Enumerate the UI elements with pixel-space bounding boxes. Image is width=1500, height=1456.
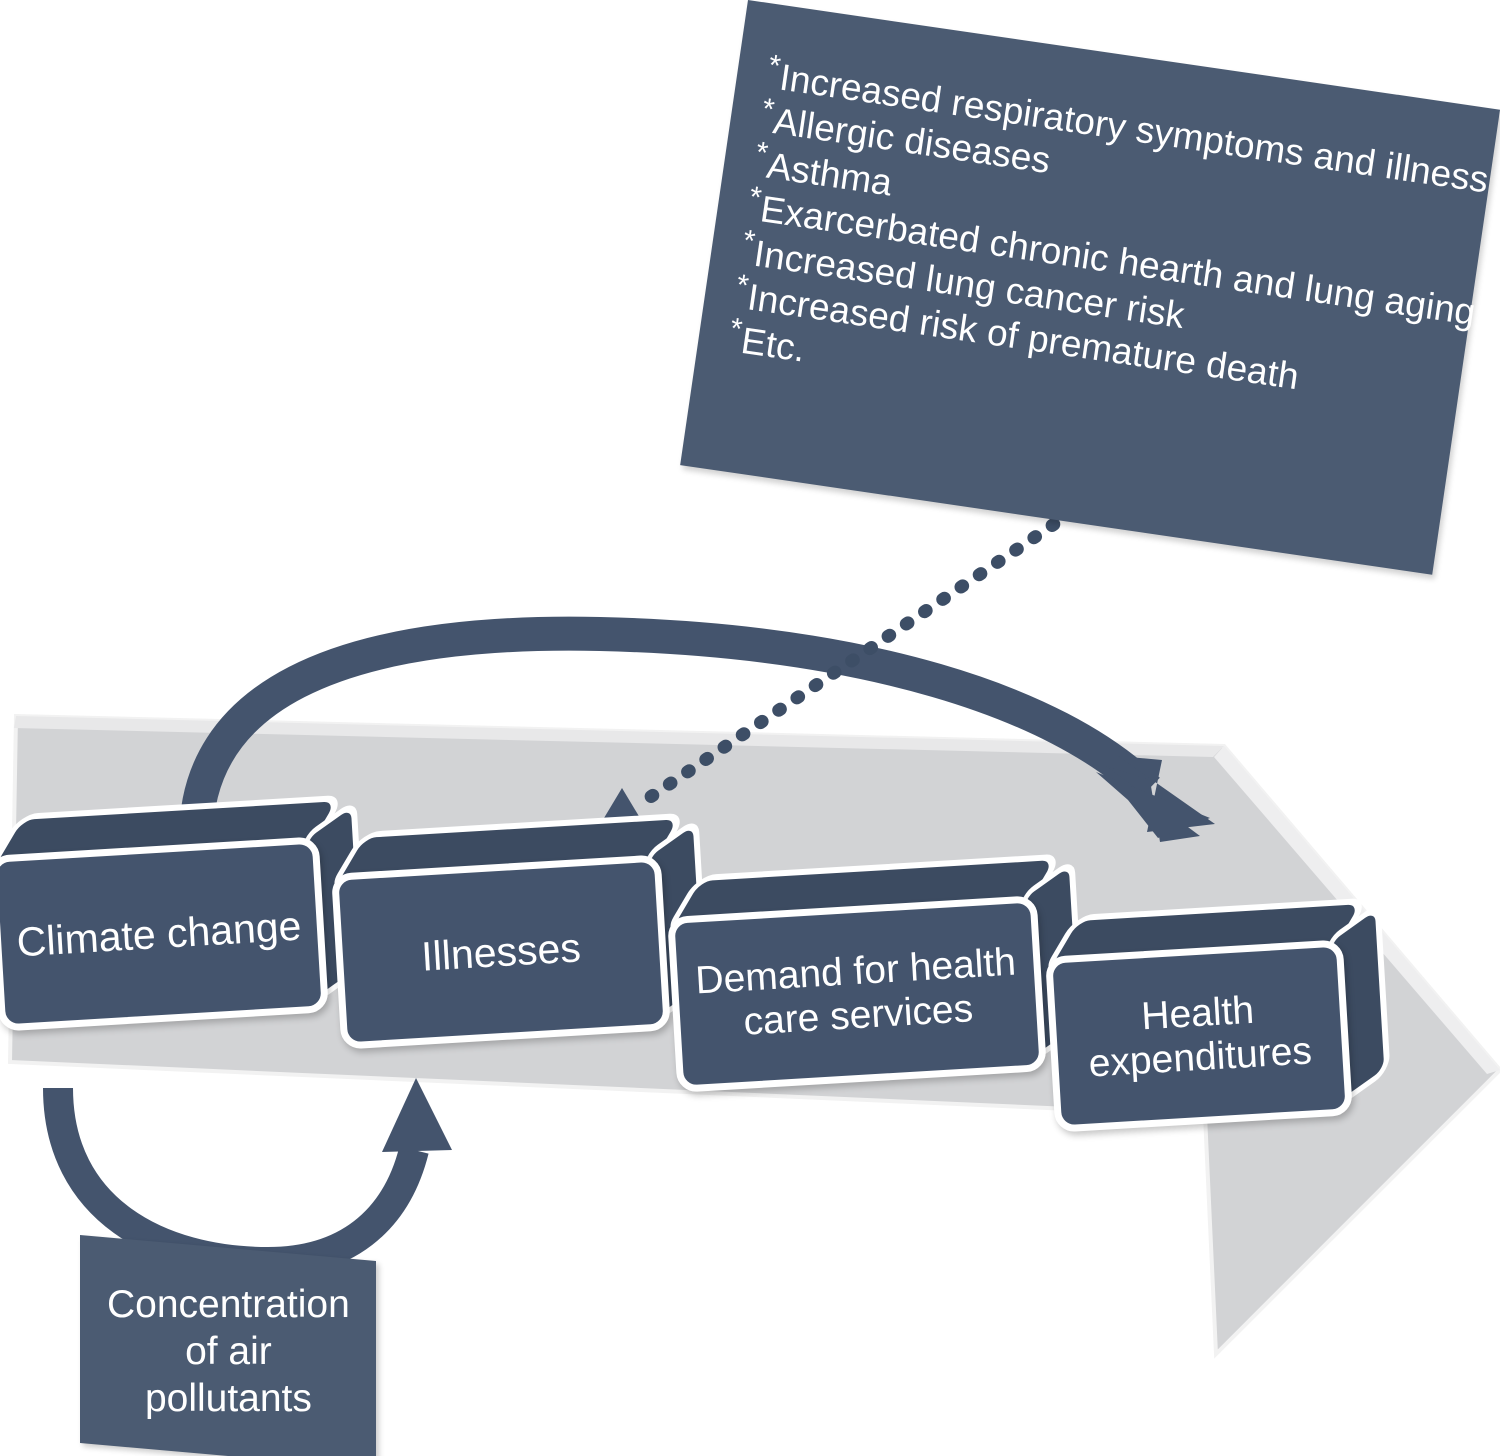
process-step-label: Demand for health care services [667, 895, 1047, 1093]
process-step-label: Illnesses [331, 854, 671, 1049]
process-step-health-expenditures[interactable]: Health expenditures [1045, 939, 1353, 1132]
process-step-illnesses[interactable]: Illnesses [331, 854, 671, 1049]
process-step-label: Health expenditures [1045, 939, 1353, 1132]
diagram-canvas: *Increased respiratory symptoms and illn… [0, 0, 1500, 1456]
process-step-demand-for-health-care-services[interactable]: Demand for health care services [667, 895, 1047, 1093]
concentration-of-air-pollutants-box[interactable]: Concentration of air pollutants [80, 1235, 376, 1456]
process-step-label: Climate change [0, 836, 329, 1031]
callout-dotted-connector [586, 512, 1072, 848]
process-step-climate-change[interactable]: Climate change [0, 836, 329, 1031]
concentration-of-air-pollutants-label: Concentration of air pollutants [107, 1282, 350, 1422]
health-effects-list: *Increased respiratory symptoms and illn… [726, 54, 1483, 465]
pollutants-to-climate-arc-arrow [58, 1078, 452, 1262]
list-item-label: Etc. [739, 320, 808, 370]
